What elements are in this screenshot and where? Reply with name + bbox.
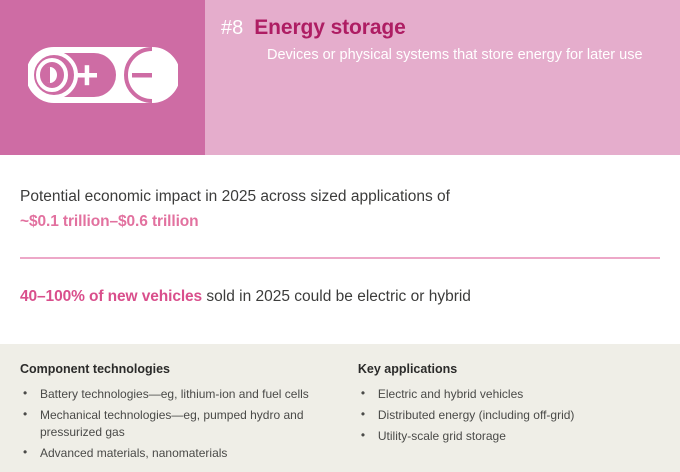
header-icon-panel: [0, 0, 205, 155]
impact-section: Potential economic impact in 2025 across…: [0, 155, 680, 344]
list-item: Battery technologies—eg, lithium-ion and…: [20, 386, 346, 403]
key-applications-column: Key applications Electric and hybrid veh…: [346, 362, 662, 472]
title-row: #8 Energy storage: [221, 17, 650, 38]
list-item: Electric and hybrid vehicles: [358, 386, 662, 403]
stat-highlight: 40–100% of new vehicles: [20, 288, 202, 305]
component-technologies-list: Battery technologies—eg, lithium-ion and…: [20, 386, 346, 462]
column-heading: Component technologies: [20, 362, 346, 377]
header-text-panel: #8 Energy storage Devices or physical sy…: [205, 0, 680, 155]
battery-icon: [28, 44, 178, 106]
column-heading: Key applications: [358, 362, 662, 377]
key-applications-list: Electric and hybrid vehicles Distributed…: [358, 386, 662, 445]
details-panel: Component technologies Battery technolog…: [0, 344, 680, 472]
rank-number: #8: [221, 18, 243, 38]
impact-lead-text: Potential economic impact in 2025 across…: [20, 185, 660, 208]
stat-line: 40–100% of new vehicles sold in 2025 cou…: [20, 286, 660, 308]
header-band: #8 Energy storage Devices or physical sy…: [0, 0, 680, 155]
list-item: Advanced materials, nanomaterials: [20, 445, 346, 462]
page-title: Energy storage: [254, 17, 406, 38]
list-item: Distributed energy (including off-grid): [358, 407, 662, 424]
impact-value: ~$0.1 trillion–$0.6 trillion: [20, 210, 660, 233]
list-item: Mechanical technologies—eg, pumped hydro…: [20, 407, 346, 441]
list-item: Utility-scale grid storage: [358, 428, 662, 445]
topic-description: Devices or physical systems that store e…: [267, 45, 650, 66]
section-divider: [20, 257, 660, 259]
stat-rest: sold in 2025 could be electric or hybrid: [202, 288, 471, 305]
component-technologies-column: Component technologies Battery technolog…: [20, 362, 346, 472]
